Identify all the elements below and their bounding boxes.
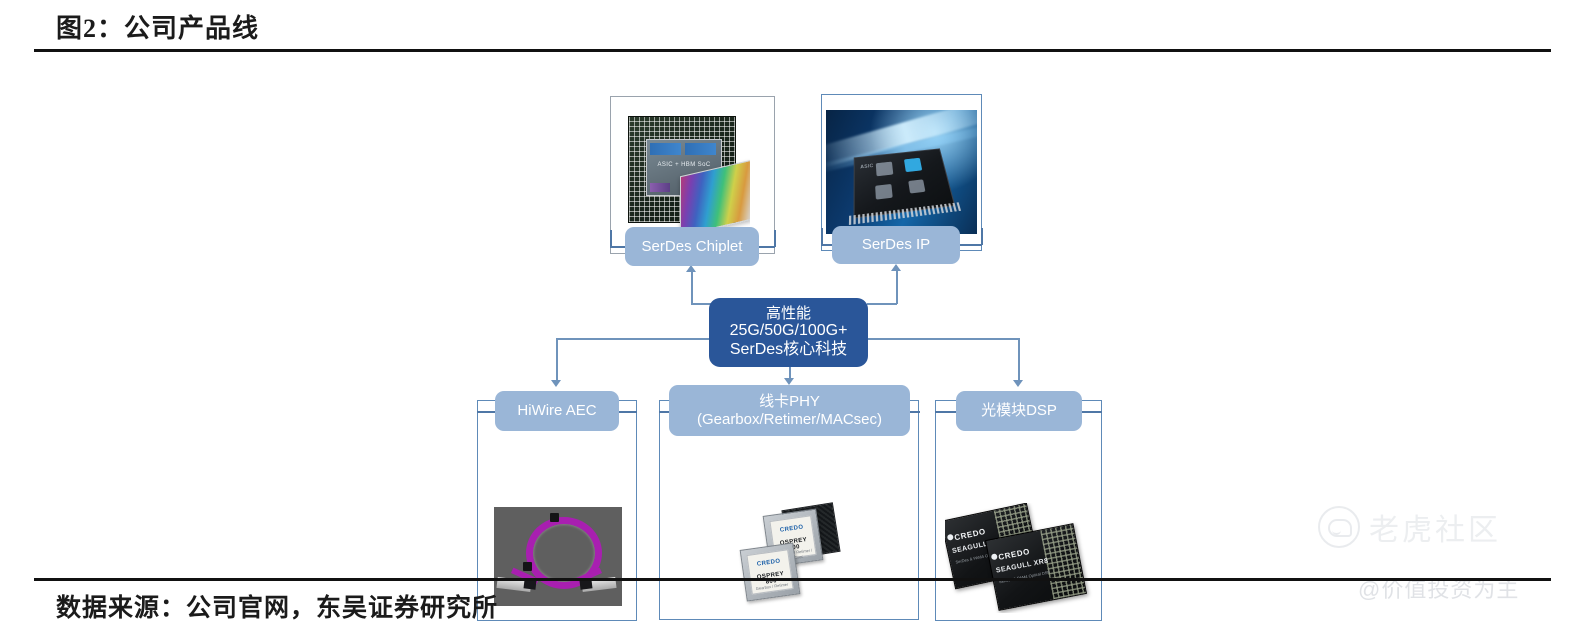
cable-tie-bottom: [523, 562, 532, 571]
rail-dsp-left: [935, 411, 958, 413]
tiger-logo-icon: [1318, 506, 1360, 548]
ip-block-2-highlight: [904, 158, 922, 172]
figure-title: 图2：公司产品线: [56, 8, 259, 45]
node-serdes-ip[interactable]: SerDes IP: [832, 226, 960, 264]
credo-logo-text: CREDO: [954, 527, 987, 542]
node-label-line-2: (Gearbox/Retimer/MACsec): [697, 411, 882, 429]
connector-core-to-ip: [896, 271, 898, 304]
ip-chip-package: ASIC: [853, 148, 955, 218]
rail-ip-left-riser: [821, 228, 823, 245]
figure-source: 数据来源：公司官网，东吴证券研究所: [56, 588, 498, 624]
rail-chiplet-right-riser: [774, 230, 776, 247]
die-block-b: [685, 143, 716, 155]
watermark-handle: @价值投资为主: [1358, 572, 1519, 604]
core-line-3: SerDes核心科技: [730, 341, 847, 360]
node-optical-module-dsp[interactable]: 光模块DSP: [956, 391, 1082, 431]
watermark-brand: 老虎社区: [1369, 505, 1501, 549]
arrow-down-aec-icon: [551, 380, 561, 387]
die-label: ASIC + HBM SoC: [647, 162, 721, 168]
core-line-1: 高性能: [766, 305, 811, 323]
product-line-diagram: ASIC + HBM SoC ASIC: [0, 60, 1585, 575]
connector-core-to-chiplet: [691, 272, 693, 304]
ip-block-4: [908, 179, 925, 193]
line-card-phy-photo: CREDO OSPREY 400 Gearbox / Retimer / MAC…: [733, 502, 853, 610]
arrow-up-chiplet-icon: [686, 265, 696, 272]
arrow-down-dsp-icon: [1013, 380, 1023, 387]
ip-block-1: [876, 162, 894, 177]
phy-chip-osprey-800: CREDO OSPREY 800 Gearbox / Retimer: [740, 542, 801, 601]
serdes-ip-photo: ASIC: [826, 110, 977, 234]
node-line-card-phy[interactable]: 线卡PHY (Gearbox/Retimer/MACsec): [669, 385, 910, 436]
credo-logo-text: CREDO: [998, 547, 1031, 562]
node-core-technology[interactable]: 高性能 25G/50G/100G+ SerDes核心科技: [709, 298, 868, 367]
phy-chip-lid: CREDO OSPREY 800 Gearbox / Retimer: [746, 549, 793, 594]
node-label: HiWire AEC: [517, 402, 596, 420]
rail-aec-right: [617, 411, 637, 413]
title-divider: [34, 49, 1551, 52]
ip-chip-marking: ASIC: [860, 164, 873, 171]
credo-logo-text: CREDO: [749, 557, 789, 569]
node-label-line-1: 线卡PHY: [759, 393, 820, 411]
optical-dsp-photo: CREDO SEAGULL 110 SerDes & PAM4 Optical …: [945, 503, 1093, 613]
connector-core-left-stub: [691, 303, 711, 305]
arrow-up-ip-icon: [891, 264, 901, 271]
serdes-chiplet-photo: ASIC + HBM SoC: [628, 116, 750, 232]
source-divider: [34, 578, 1551, 581]
node-label: SerDes Chiplet: [642, 238, 743, 256]
connector-core-right-stub: [867, 303, 897, 305]
core-line-2: 25G/50G/100G+: [730, 322, 848, 341]
connector-bus-to-dsp: [1018, 338, 1020, 382]
cable-tie-top: [550, 513, 559, 522]
figure-page: 图2：公司产品线 ASIC + HBM SoC: [0, 0, 1585, 631]
dsp-chip-seagull-xr8: CREDO SEAGULL XR8 SerDes & PAM4 Optical …: [985, 523, 1087, 611]
credo-mark-icon: [991, 553, 998, 560]
die-block-a: [650, 143, 681, 155]
watermark: 老虎社区: [1318, 505, 1501, 549]
credo-mark-icon: [947, 534, 954, 541]
rail-ip-right-riser: [981, 228, 983, 245]
arrow-down-phy-icon: [784, 378, 794, 385]
node-serdes-chiplet[interactable]: SerDes Chiplet: [625, 227, 759, 266]
node-label: 光模块DSP: [981, 402, 1057, 420]
hiwire-aec-photo: [494, 507, 622, 606]
rail-aec-left: [477, 411, 497, 413]
connector-bus-to-aec: [556, 338, 558, 382]
connector-core-bus-left: [556, 338, 710, 340]
die-block-c: [650, 183, 670, 192]
credo-logo-text: CREDO: [772, 523, 812, 535]
node-hiwire-aec[interactable]: HiWire AEC: [495, 391, 619, 431]
connector-core-bus-right: [867, 338, 1019, 340]
rail-dsp-right: [1080, 411, 1102, 413]
rail-chiplet-left-riser: [610, 230, 612, 247]
node-label: SerDes IP: [862, 236, 930, 254]
ip-block-3: [875, 184, 893, 200]
